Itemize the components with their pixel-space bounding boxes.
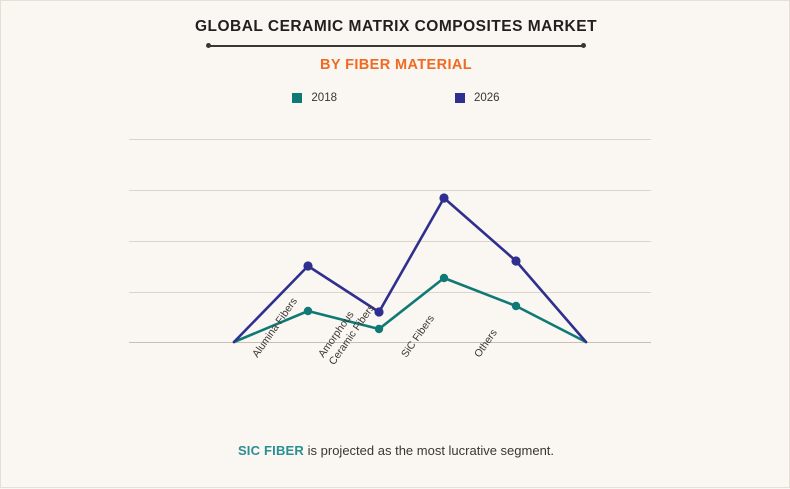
footnote-rest: is projected as the most lucrative segme… (304, 443, 554, 458)
series-layer (1, 1, 790, 489)
chart-plot-area: Alumina Fibers Amorphous Ceramic Fibers … (1, 1, 790, 489)
chart-footnote: SIC FIBER is projected as the most lucra… (1, 443, 790, 458)
datapoint-2026-alumina-fibers[interactable] (303, 261, 312, 270)
footnote-highlight: SIC FIBER (238, 443, 304, 458)
datapoint-2026-others[interactable] (511, 256, 520, 265)
datapoint-2018-others[interactable] (512, 302, 520, 310)
chart-page: GLOBAL CERAMIC MATRIX COMPOSITES MARKET … (0, 0, 790, 488)
datapoint-2018-alumina-fibers[interactable] (304, 307, 312, 315)
datapoint-2026-sic-fibers[interactable] (439, 193, 448, 202)
datapoint-2018-sic-fibers[interactable] (440, 274, 448, 282)
datapoint-2018-amorphous-ceramic-fibers[interactable] (375, 325, 383, 333)
